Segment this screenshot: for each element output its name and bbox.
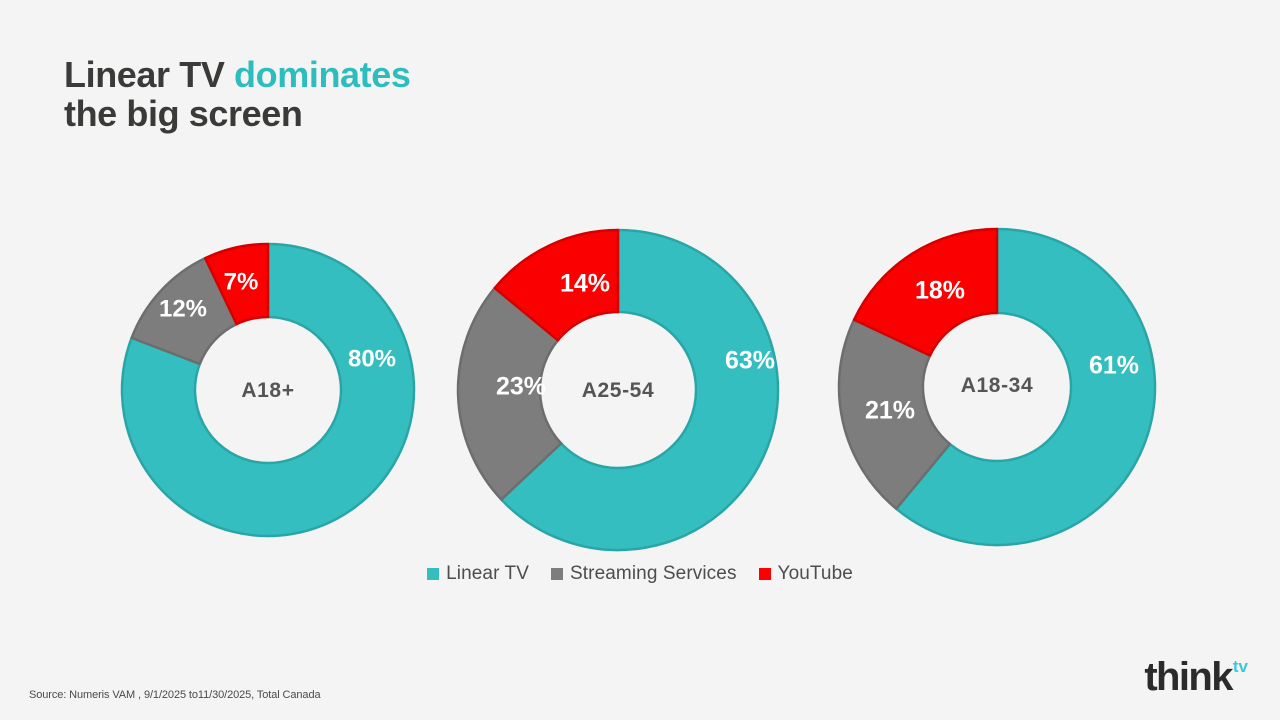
donut-slice-label-linear-tv: 80% <box>348 345 396 372</box>
legend-item-label: Linear TV <box>446 563 529 585</box>
donut-chart-title: A18+ <box>241 379 294 402</box>
donut-chart-title: A18-34 <box>961 374 1033 397</box>
chart-legend: Linear TVStreaming ServicesYouTube <box>0 563 1280 585</box>
legend-swatch-icon <box>427 568 439 580</box>
page-title-plain: Linear TV <box>64 54 234 95</box>
page-title-accent: dominates <box>234 54 410 95</box>
legend-item[interactable]: Linear TV <box>427 563 529 585</box>
donut-slice-label-youtube: 18% <box>915 277 965 305</box>
legend-item-label: YouTube <box>778 563 853 585</box>
thinktv-logo: think tv <box>1144 657 1248 697</box>
donut-slice-label-linear-tv: 63% <box>725 347 775 375</box>
legend-item[interactable]: YouTube <box>759 563 853 585</box>
source-note: Source: Numeris VAM , 9/1/2025 to11/30/2… <box>29 689 320 701</box>
logo-wordmark: think <box>1144 657 1232 697</box>
donut-slice-label-streaming-services: 12% <box>159 295 207 322</box>
legend-swatch-icon <box>759 568 771 580</box>
donut-charts-row: 80%12%7%63%23%14%61%21%18%A18+A25-54A18-… <box>0 190 1280 560</box>
donut-slice-label-linear-tv: 61% <box>1089 352 1139 380</box>
legend-item-label: Streaming Services <box>570 563 737 585</box>
donut-slice-label-streaming-services: 21% <box>865 397 915 425</box>
donut-slice-label-youtube: 14% <box>560 270 610 298</box>
donut-slice-label-streaming-services: 23% <box>496 373 546 401</box>
page-title-line-2: the big screen <box>64 95 410 134</box>
legend-swatch-icon <box>551 568 563 580</box>
page-title-line-1: Linear TV dominates <box>64 56 410 95</box>
donut-chart-title: A25-54 <box>582 379 654 402</box>
logo-tv-superscript: tv <box>1233 658 1248 675</box>
legend-item[interactable]: Streaming Services <box>551 563 737 585</box>
page-title: Linear TV dominates the big screen <box>64 56 410 134</box>
donut-charts-svg: 80%12%7%63%23%14%61%21%18%A18+A25-54A18-… <box>0 190 1280 560</box>
donut-slice-label-youtube: 7% <box>224 268 259 295</box>
